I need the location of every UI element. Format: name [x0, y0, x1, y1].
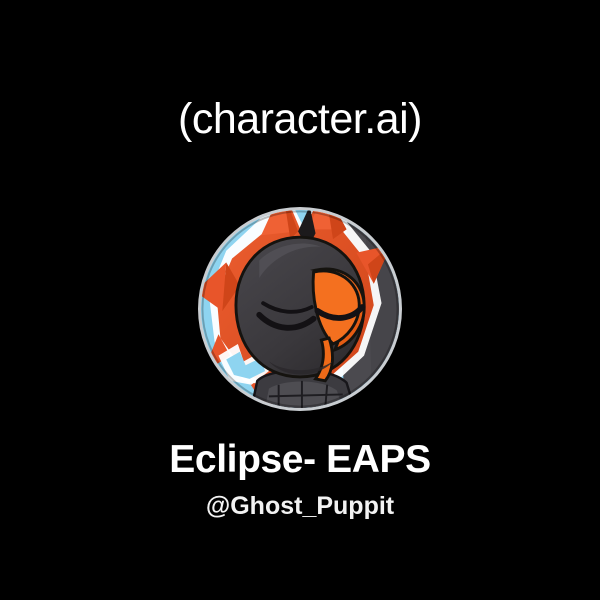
creator-handle[interactable]: @Ghost_Puppit [0, 494, 600, 519]
character-avatar-illustration [201, 210, 399, 408]
character-name: Eclipse- EAPS [0, 440, 600, 479]
brand-title: (character.ai) [0, 98, 600, 141]
avatar[interactable] [198, 207, 402, 411]
character-profile-screen: (character.ai) [0, 0, 600, 600]
